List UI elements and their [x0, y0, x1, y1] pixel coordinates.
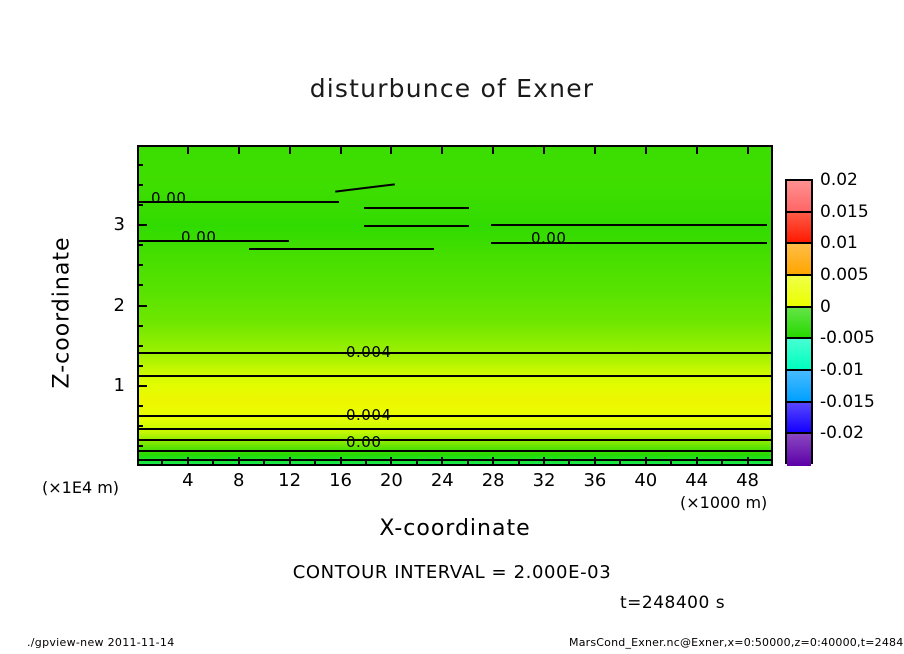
x-axis-unit-label: (×1000 m): [680, 493, 767, 512]
y-minor-tick: [137, 345, 143, 347]
y-minor-tick: [137, 264, 143, 266]
y-axis-unit-label: (×1E4 m): [42, 478, 119, 497]
y-tick: [137, 385, 147, 387]
contour-plot-area[interactable]: 0.00 0.00 0.00 0.004 0.004 0.00: [137, 145, 773, 466]
x-tick-top: [390, 145, 392, 154]
y-tick: [137, 305, 147, 307]
contour-line: [139, 415, 771, 417]
x-tick-label: 36: [573, 470, 617, 491]
x-tick: [543, 457, 545, 466]
x-minor-tick: [161, 461, 163, 466]
x-minor-tick: [416, 461, 418, 466]
x-minor-tick: [568, 461, 570, 466]
contour-line: [139, 375, 771, 377]
footer-command: ./gpview-new 2011-11-14: [27, 636, 175, 649]
x-tick: [696, 457, 698, 466]
colorbar-band[interactable]: [787, 339, 811, 371]
x-tick-top: [543, 145, 545, 154]
x-tick: [747, 457, 749, 466]
y-minor-tick: [137, 244, 143, 246]
x-tick-label: 40: [624, 470, 668, 491]
y-axis-title: Z-coordinate: [50, 223, 75, 403]
colorbar-tick-label: 0.01: [820, 233, 858, 253]
x-tick-label: 44: [675, 470, 719, 491]
x-tick: [238, 457, 240, 466]
x-tick-label: 20: [369, 470, 413, 491]
x-minor-tick: [314, 461, 316, 466]
x-axis-title: X-coordinate: [137, 516, 773, 541]
colorbar-band[interactable]: [787, 244, 811, 276]
time-annotation: t=248400 s: [620, 593, 725, 613]
contour-interval-annotation: CONTOUR INTERVAL = 2.000E-03: [0, 562, 904, 583]
x-tick-label: 8: [217, 470, 261, 491]
x-tick: [340, 457, 342, 466]
contour-line: [364, 207, 469, 209]
x-tick-label: 48: [726, 470, 770, 491]
x-tick-top: [187, 145, 189, 154]
x-tick-top: [238, 145, 240, 154]
contour-line: [491, 224, 767, 226]
page-title: disturbunce of Exner: [0, 74, 904, 103]
x-tick-label: 16: [319, 470, 363, 491]
x-tick-top: [645, 145, 647, 154]
colorbar-band[interactable]: [787, 213, 811, 245]
x-tick-label: 28: [471, 470, 515, 491]
x-tick-label: 4: [166, 470, 210, 491]
x-tick-top: [340, 145, 342, 154]
y-minor-tick: [137, 405, 143, 407]
contour-label: 0.00: [181, 230, 216, 245]
y-minor-tick: [137, 164, 143, 166]
colorbar-band[interactable]: [787, 276, 811, 308]
x-tick-top: [747, 145, 749, 154]
y-minor-tick: [137, 325, 143, 327]
x-tick: [492, 457, 494, 466]
y-tick-label: 1: [101, 375, 125, 396]
x-tick: [441, 457, 443, 466]
footer-source: MarsCond_Exner.nc@Exner,x=0:50000,z=0:40…: [569, 636, 904, 649]
colorbar-band[interactable]: [787, 434, 811, 466]
colorbar-band[interactable]: [787, 181, 811, 213]
x-minor-tick: [721, 461, 723, 466]
y-minor-tick: [137, 204, 143, 206]
contour-label: 0.00: [531, 231, 566, 246]
x-minor-tick: [365, 461, 367, 466]
x-tick-top: [594, 145, 596, 154]
colorbar-band[interactable]: [787, 403, 811, 435]
colorbar-tick-label: -0.01: [820, 360, 864, 380]
x-tick-label: 32: [522, 470, 566, 491]
colorbar[interactable]: [785, 179, 813, 464]
x-minor-tick: [670, 461, 672, 466]
x-tick: [390, 457, 392, 466]
y-minor-tick: [137, 284, 143, 286]
x-tick-top: [492, 145, 494, 154]
x-tick-top: [696, 145, 698, 154]
colorbar-tick-label: 0.005: [820, 265, 869, 285]
colorbar-tick-label: 0.015: [820, 202, 869, 222]
x-tick: [289, 457, 291, 466]
contour-line: [139, 428, 771, 430]
x-minor-tick: [467, 461, 469, 466]
contour-label: 0.004: [346, 345, 391, 360]
colorbar-tick-label: -0.02: [820, 423, 864, 443]
x-minor-tick: [518, 461, 520, 466]
y-minor-tick: [137, 425, 143, 427]
y-minor-tick: [137, 365, 143, 367]
colorbar-tick-label: -0.005: [820, 328, 875, 348]
y-minor-tick: [137, 445, 143, 447]
x-minor-tick: [212, 461, 214, 466]
colorbar-tick-label: 0.02: [820, 170, 858, 190]
colorbar-tick-label: -0.015: [820, 392, 875, 412]
x-tick-top: [441, 145, 443, 154]
x-tick-top: [289, 145, 291, 154]
x-tick-label: 12: [268, 470, 312, 491]
colorbar-band[interactable]: [787, 371, 811, 403]
y-tick: [137, 224, 147, 226]
x-tick: [187, 457, 189, 466]
contour-line: [139, 352, 771, 354]
contour-line: [139, 450, 771, 452]
colorbar-band[interactable]: [787, 308, 811, 340]
contour-label: 0.00: [346, 435, 381, 450]
y-tick-label: 2: [101, 295, 125, 316]
y-tick-label: 3: [101, 214, 125, 235]
contour-line: [139, 459, 771, 461]
contour-label: 0.004: [346, 408, 391, 423]
x-minor-tick: [263, 461, 265, 466]
x-minor-tick: [619, 461, 621, 466]
contour-line: [249, 248, 434, 250]
x-tick: [645, 457, 647, 466]
x-tick: [594, 457, 596, 466]
colorbar-tick-label: 0: [820, 297, 831, 317]
x-tick-label: 24: [420, 470, 464, 491]
y-minor-tick: [137, 184, 143, 186]
contour-line: [139, 439, 771, 441]
contour-line: [364, 225, 469, 227]
contour-label: 0.00: [151, 191, 186, 206]
